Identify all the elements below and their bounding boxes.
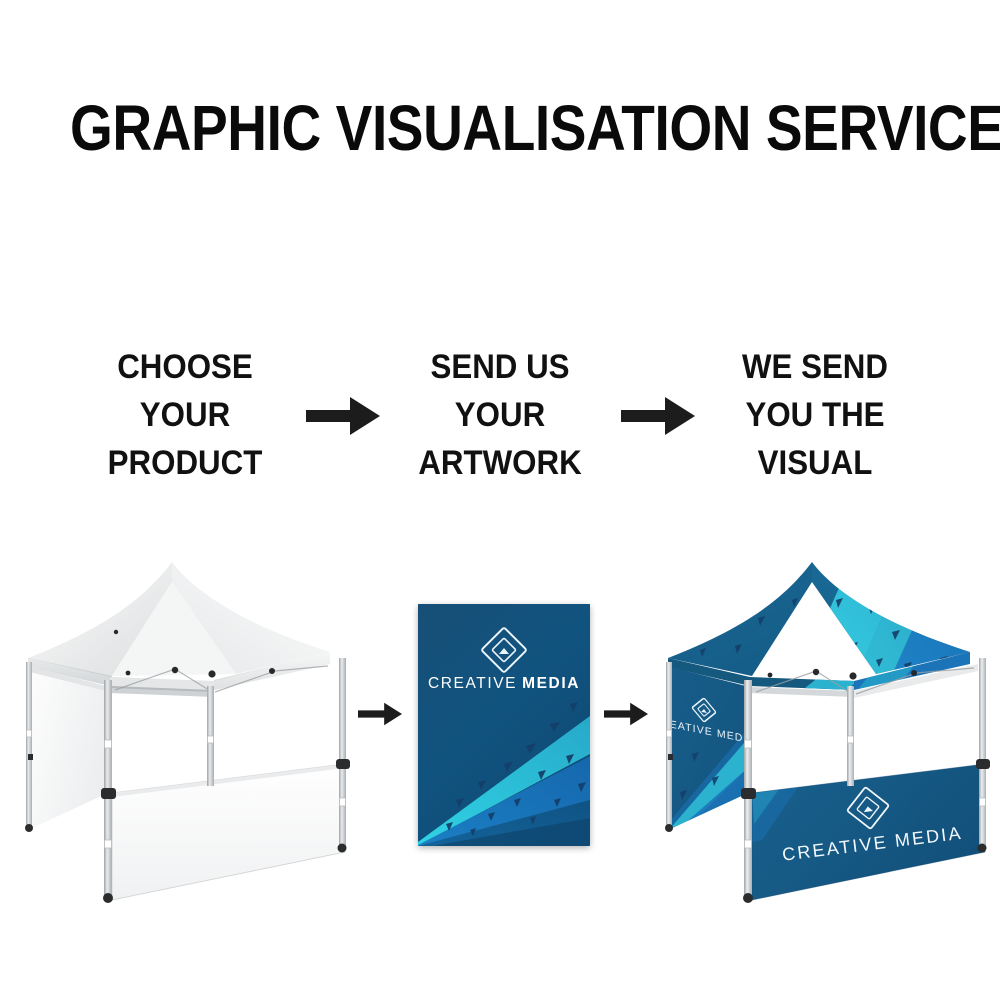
step-2-line-1: SEND US bbox=[394, 343, 606, 391]
step-3-line-2: YOU THE bbox=[709, 391, 921, 439]
step-2-label: SEND US YOUR ARTWORK bbox=[394, 343, 606, 487]
step-arrow-1 bbox=[300, 393, 385, 439]
step-2-line-2: YOUR bbox=[394, 391, 606, 439]
infographic-canvas: GRAPHIC VISUALISATION SERVICE CHOOSE YOU… bbox=[0, 0, 1000, 1000]
step-1-line-1: CHOOSE bbox=[79, 343, 291, 391]
steps-row: CHOOSE YOUR PRODUCT SEND US YOUR ARTWORK… bbox=[0, 340, 1000, 490]
page-title: GRAPHIC VISUALISATION SERVICE bbox=[70, 96, 930, 160]
step-1-line-2: YOUR bbox=[79, 391, 291, 439]
poster-brand-text: CREATIVEMEDIA bbox=[428, 675, 580, 692]
blank-product-image bbox=[0, 540, 370, 930]
artwork-poster-graphic: CREATIVEMEDIA bbox=[418, 604, 590, 846]
artwork-poster: CREATIVEMEDIA bbox=[418, 604, 590, 846]
step-arrow-2 bbox=[615, 393, 700, 439]
arrow-right-icon bbox=[306, 393, 380, 439]
scene-arrow-1 bbox=[358, 700, 402, 728]
step-3-label: WE SEND YOU THE VISUAL bbox=[709, 343, 921, 487]
step-3-line-3: VISUAL bbox=[709, 439, 921, 487]
step-3-line-1: WE SEND bbox=[709, 343, 921, 391]
printed-product-image: CREATIVE MEDIA bbox=[640, 540, 1000, 930]
step-1-line-3: PRODUCT bbox=[79, 439, 291, 487]
step-2-line-3: ARTWORK bbox=[394, 439, 606, 487]
arrow-right-icon bbox=[621, 393, 695, 439]
arrow-right-icon bbox=[358, 700, 402, 728]
step-1-label: CHOOSE YOUR PRODUCT bbox=[79, 343, 291, 487]
